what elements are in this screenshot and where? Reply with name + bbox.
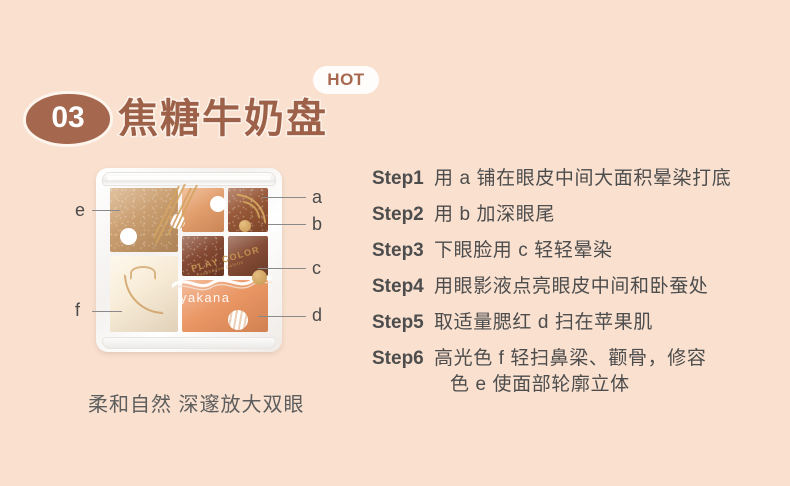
decorative-white-dot — [120, 228, 137, 245]
leader-line-c — [258, 268, 306, 269]
step-text-wrap: 高光色 f 轻扫鼻梁、颧骨，修容 色 e 使面部轮廓立体 — [434, 346, 784, 398]
pan-label-e: e — [75, 200, 85, 221]
step-text: 下眼脸用 c 轻轻晕染 — [434, 238, 784, 264]
leader-line-f — [92, 311, 122, 312]
pan-label-a: a — [312, 187, 322, 208]
hot-badge-label: HOT — [327, 70, 364, 90]
step-key: Step2 — [372, 202, 434, 228]
step-text-continuation: 色 e 使面部轮廓立体 — [434, 372, 784, 398]
leader-line-b — [268, 224, 306, 225]
step-text: 高光色 f 轻扫鼻梁、颧骨，修容 — [434, 348, 706, 369]
brand-mark: yakana — [180, 290, 230, 305]
decorative-white-dot — [210, 196, 226, 212]
step-key: Step1 — [372, 166, 434, 192]
step-key: Step6 — [372, 346, 434, 372]
decorative-striped-dot — [170, 214, 185, 229]
step-key: Step4 — [372, 274, 434, 300]
hot-badge: HOT — [313, 66, 379, 94]
step-row: Step4 用眼影液点亮眼皮中间和卧蚕处 — [372, 274, 784, 300]
step-key: Step5 — [372, 310, 434, 336]
pan-label-c: c — [312, 258, 321, 279]
leader-line-d — [258, 316, 306, 317]
step-row: Step6 高光色 f 轻扫鼻梁、颧骨，修容 色 e 使面部轮廓立体 — [372, 346, 784, 398]
section-number-label: 03 — [26, 94, 110, 144]
decorative-gold-dot — [252, 270, 267, 285]
pan-label-d: d — [312, 305, 322, 326]
step-text: 用 b 加深眼尾 — [434, 202, 784, 228]
product-detail-page: HOT 03 焦糖牛奶盘 — [0, 0, 790, 486]
step-row: Step1 用 a 铺在眼皮中间大面积晕染打底 — [372, 166, 784, 192]
step-instructions-list: Step1 用 a 铺在眼皮中间大面积晕染打底 Step2 用 b 加深眼尾 S… — [372, 166, 784, 408]
step-row: Step2 用 b 加深眼尾 — [372, 202, 784, 228]
product-image-eyeshadow-palette: PLAY COLOR eyeshadow palette yakana — [96, 168, 282, 352]
page-title: 焦糖牛奶盘 — [118, 96, 328, 142]
decorative-arc-icon — [130, 266, 156, 280]
decorative-striped-dot — [228, 310, 248, 330]
leader-line-a — [262, 197, 306, 198]
pan-gloss-overlay — [182, 280, 268, 332]
palette-pan-tray: PLAY COLOR eyeshadow palette yakana — [110, 188, 268, 332]
palette-base-lip — [102, 337, 276, 349]
leader-line-e — [92, 210, 120, 211]
step-text: 用眼影液点亮眼皮中间和卧蚕处 — [434, 274, 784, 300]
product-caption: 柔和自然 深邃放大双眼 — [88, 388, 305, 417]
step-text: 取适量腮红 d 扫在苹果肌 — [434, 310, 784, 336]
pan-label-b: b — [312, 214, 322, 235]
pan-f-highlight-cream — [110, 256, 178, 332]
pan-label-f: f — [75, 300, 80, 321]
step-row: Step5 取适量腮红 d 扫在苹果肌 — [372, 310, 784, 336]
step-text: 用 a 铺在眼皮中间大面积晕染打底 — [434, 166, 784, 192]
pan-d-blush-coral — [182, 280, 268, 332]
step-row: Step3 下眼脸用 c 轻轻晕染 — [372, 238, 784, 264]
step-key: Step3 — [372, 238, 434, 264]
decorative-gold-dot — [239, 220, 251, 232]
section-number-badge: 03 — [26, 94, 110, 144]
